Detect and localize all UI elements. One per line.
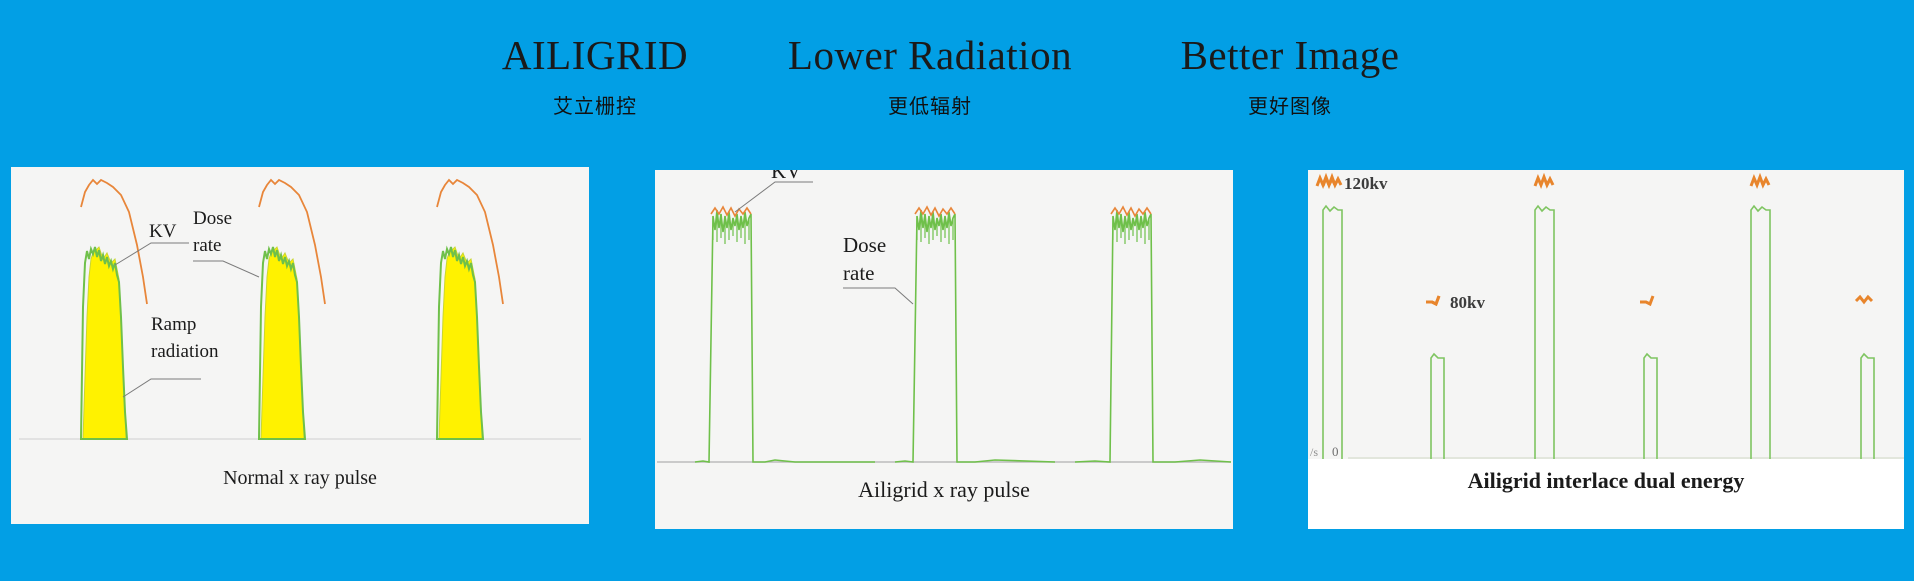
panel-caption-normal-pulse: Normal x ray pulse [11,467,589,490]
legend-item-80kv: 80kv [1426,293,1485,312]
ramp-radiation-fill-3 [439,247,482,439]
annotation-dose-rate-line2: rate [193,235,221,256]
pulse-120kv-2 [1535,206,1554,470]
annotation-dose-rate: Dose rate [843,233,913,304]
dose-rate-pulse-3 [1075,210,1231,462]
legend-marker-80kv-icon [1426,296,1439,304]
ramp-radiation-fill-2 [261,247,304,439]
kv-marker-80kv-3 [1856,297,1872,302]
title-zh-2: 更好图像 [1070,90,1510,119]
kv-marker-120kv-3 [1751,177,1769,186]
y-axis-unit-label: /s [1310,445,1318,459]
dose-rate-pulse-2 [895,210,1055,462]
chart-panel-ailigrid-pulse: KV Dose rate Ailigrid x ray pulse [655,170,1233,529]
annotation-kv: KV [115,221,189,265]
panel-caption-ailigrid-pulse: Ailigrid x ray pulse [655,477,1233,503]
chart-interlace-dual-energy: 120kv 80kv /s 0 [1308,170,1904,470]
pulse-120kv-3 [1751,206,1770,470]
ramp-radiation-fill-1 [83,247,126,439]
annotation-kv-label: KV [149,221,177,242]
pulse-80kv-3 [1861,354,1874,470]
annotation-dose-rate-line2: rate [843,261,874,285]
kv-marker-80kv-2 [1640,296,1653,304]
kv-marker-120kv-2 [1535,177,1553,186]
legend-label-120kv: 120kv [1344,174,1388,193]
chart-panel-interlace-dual-energy: 120kv 80kv /s 0 Ailigrid interlace dual … [1308,170,1904,529]
annotation-ramp-radiation-line1: Ramp [151,314,196,335]
annotation-dose-rate: Dose rate [193,208,259,277]
panel-caption-interlace-dual-energy: Ailigrid interlace dual energy [1308,468,1904,494]
chart-panel-normal-pulse: KV Dose rate Ramp radiation Normal x ray… [11,167,589,524]
pulse-80kv-1 [1431,354,1444,470]
annotation-dose-rate-line1: Dose [193,208,232,229]
legend-item-120kv: 120kv [1317,174,1388,193]
annotation-ramp-radiation: Ramp radiation [123,314,219,397]
title-group-better-image: Better Image 更好图像 [1070,35,1510,119]
y-axis-zero-tick: 0 [1332,444,1339,459]
legend-label-80kv: 80kv [1450,293,1485,312]
chart-normal-pulse: KV Dose rate Ramp radiation [11,167,589,467]
pulse-80kv-2 [1644,354,1657,470]
annotation-kv-label: KV [771,170,801,183]
annotation-dose-rate-line1: Dose [843,233,886,257]
annotation-ramp-radiation-line2: radiation [151,341,219,362]
header-banner: AILIGRID 艾立栅控 Lower Radiation 更低辐射 Bette… [0,0,1914,148]
annotation-kv: KV [735,170,813,212]
pulse-120kv-1 [1323,206,1342,470]
title-en-2: Better Image [1070,35,1510,76]
chart-ailigrid-pulse: KV Dose rate [655,170,1233,477]
